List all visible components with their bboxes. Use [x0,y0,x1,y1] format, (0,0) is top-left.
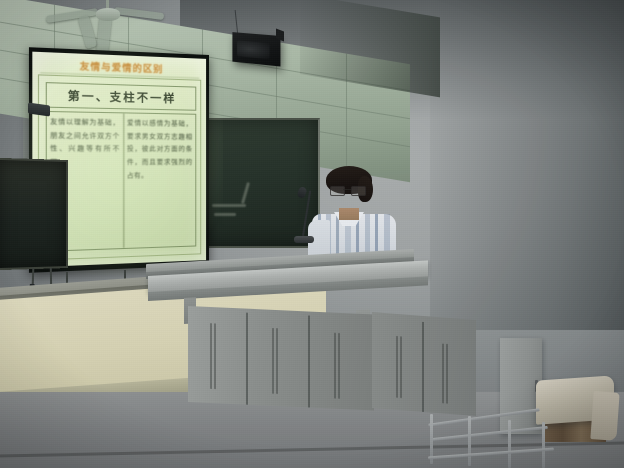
lecture-hall-photo: 友情与爱情的区别 第一、支柱不一样 友情以理解为基础，朋友之间允许双方个性、兴趣… [0,0,624,468]
blackboard-left [0,158,68,270]
podium-cabinet-side [372,312,476,416]
slide-heading: 第一、支柱不一样 [46,82,197,111]
slide-column-right: 爱情以感情为基础，要求男女双方志趣相投，彼此对方面的条件，而且要求强烈的占有。 [124,113,196,248]
eyeglasses-icon [330,186,364,194]
metal-frame-stack [428,412,558,468]
wall-hook [32,268,34,286]
gooseneck-microphone [292,190,322,256]
wall-mounted-speaker [232,32,280,66]
ceiling-fan-icon [52,0,162,52]
podium-cabinet-front [188,306,374,410]
cloth-flap [590,391,619,441]
lectern-podium [146,250,476,390]
slide-columns: 友情以理解为基础，朋友之间允许双方个性、兴趣等有所不同。 爱情以感情为基础，要求… [46,111,197,252]
